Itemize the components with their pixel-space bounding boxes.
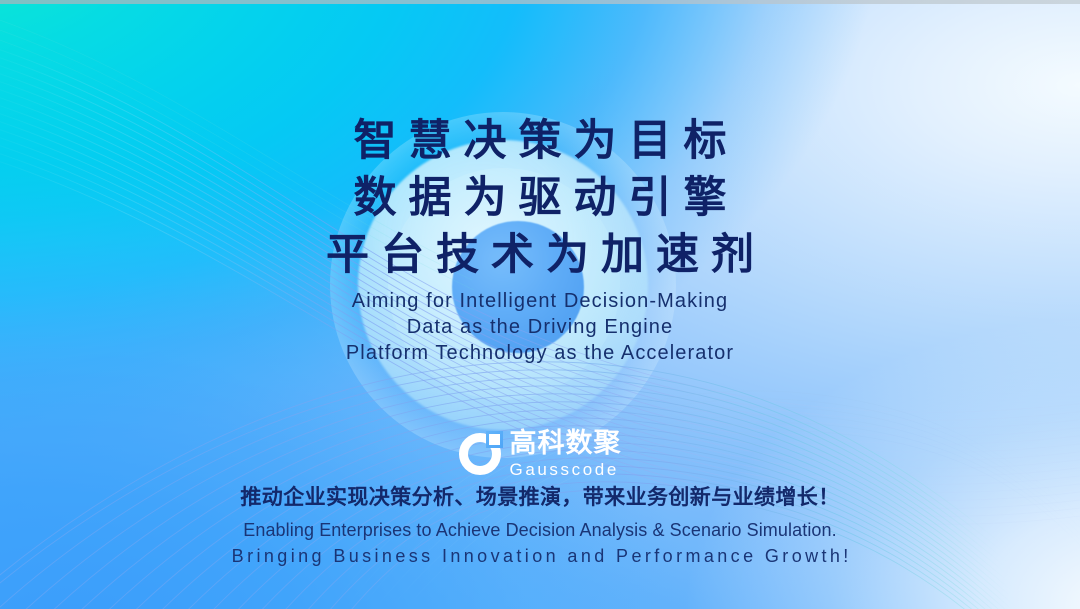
footer-line-cn: 推动企业实现决策分析、场景推演，带来业务创新与业绩增长！ (0, 483, 1080, 513)
top-edge-strip (0, 0, 1080, 4)
banner-content: 智慧决策为目标 数据为驱动引擎 平台技术为加速剂 Aiming for Inte… (0, 0, 1080, 609)
logo-inner: 高科数聚 Gausscode (459, 430, 622, 478)
footer-block: 推动企业实现决策分析、场景推演，带来业务创新与业绩增长！ Enabling En… (0, 483, 1080, 569)
subheadline-line-2: Data as the Driving Engine (0, 314, 1080, 340)
footer-line-en-two: Bringing Business Innovation and Perform… (0, 543, 1080, 569)
banner-canvas: 智慧决策为目标 数据为驱动引擎 平台技术为加速剂 Aiming for Inte… (0, 0, 1080, 609)
headline-block: 智慧决策为目标 数据为驱动引擎 平台技术为加速剂 (0, 113, 1080, 284)
gausscode-g-mark-icon (459, 433, 501, 475)
logo-wordmark: 高科数聚 Gausscode (510, 430, 622, 478)
logo-name-en: Gausscode (510, 461, 622, 478)
logo-name-cn: 高科数聚 (510, 430, 622, 457)
headline-line-1: 智慧决策为目标 (0, 113, 1080, 170)
headline-line-3: 平台技术为加速剂 (0, 227, 1080, 284)
logo-chip-shape (489, 434, 500, 445)
headline-line-2: 数据为驱动引擎 (0, 170, 1080, 227)
company-logo: 高科数聚 Gausscode (0, 430, 1080, 478)
subheadline-line-1: Aiming for Intelligent Decision-Making (0, 288, 1080, 314)
subheadline-block: Aiming for Intelligent Decision-Making D… (0, 288, 1080, 366)
footer-line-en-one: Enabling Enterprises to Achieve Decision… (0, 517, 1080, 543)
subheadline-line-3: Platform Technology as the Accelerator (0, 340, 1080, 366)
